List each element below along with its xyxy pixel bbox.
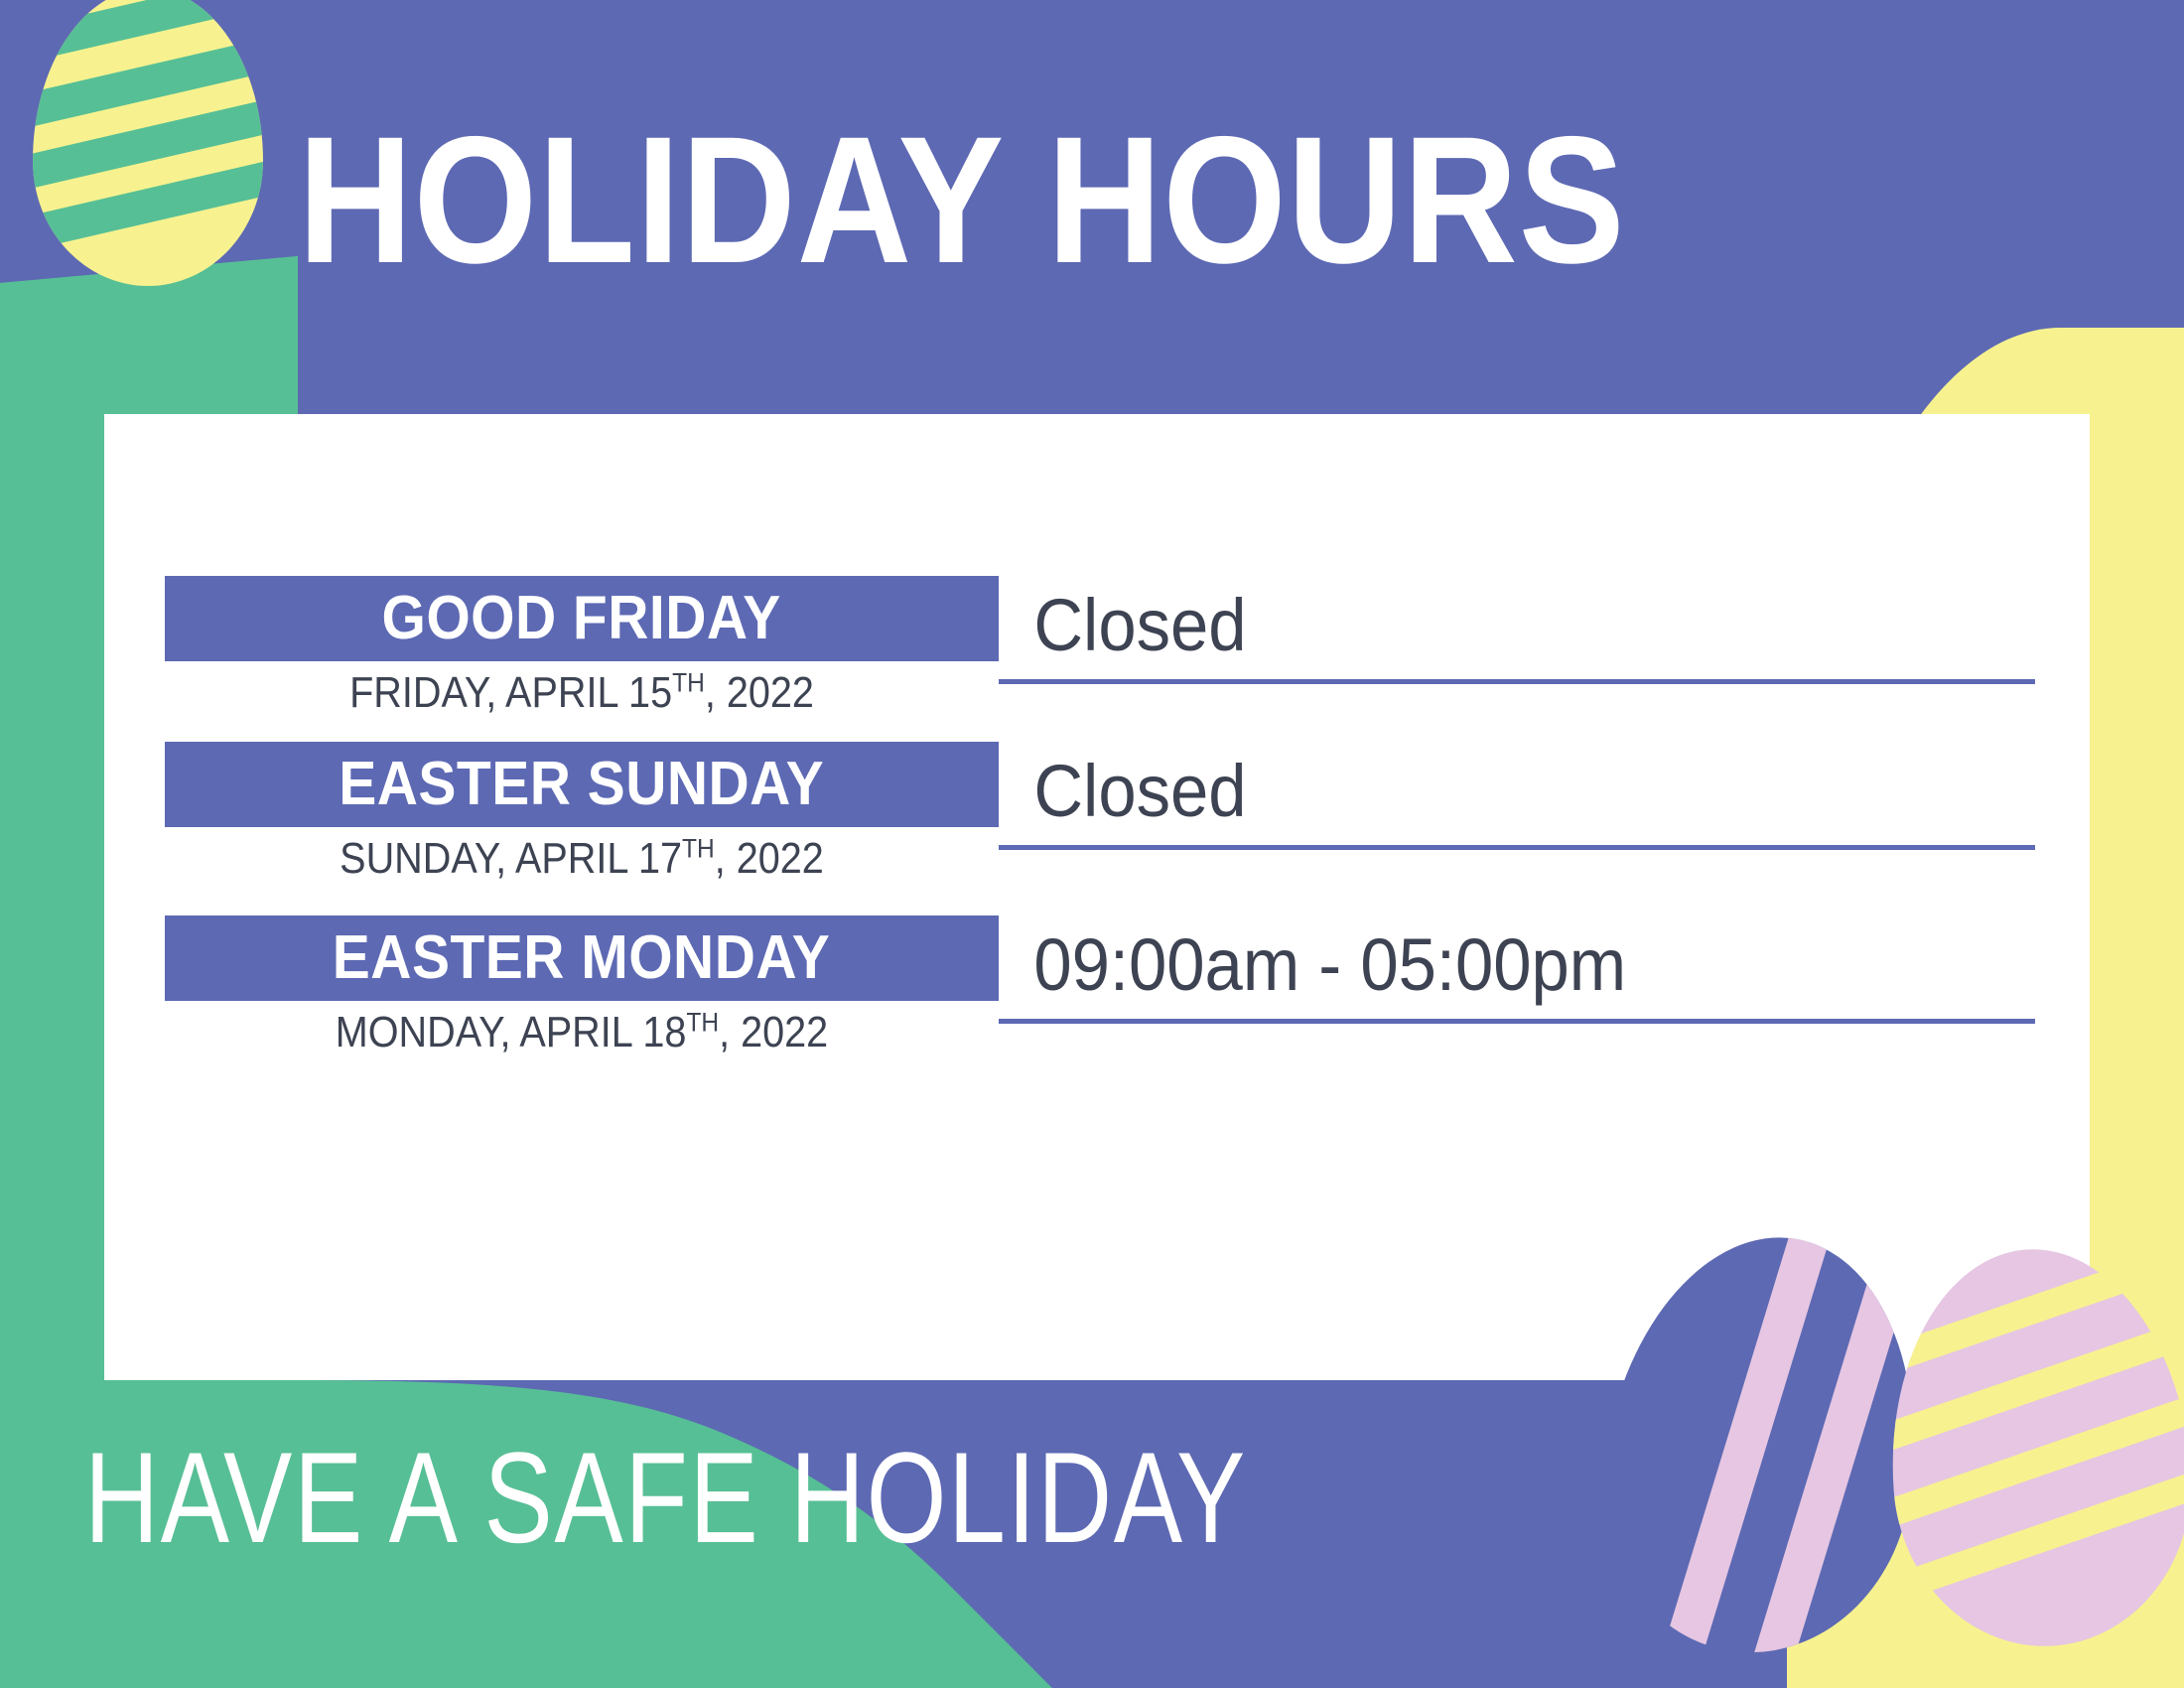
holiday-hours-value: Closed (999, 589, 1247, 662)
holiday-hours-field: 09:00am - 05:00pm (999, 912, 2035, 1024)
holiday-hours-field: Closed (999, 738, 2035, 850)
holiday-name-bar: GOOD FRIDAY (165, 576, 999, 661)
holiday-date: FRIDAY, APRIL 15TH, 2022 (206, 671, 957, 715)
easter-egg-yellow-green-stripes-icon (33, 0, 263, 286)
holiday-name-bar: EASTER SUNDAY (165, 742, 999, 827)
holiday-date-prefix: FRIDAY, APRIL 15 (349, 668, 672, 717)
holiday-name: EASTER MONDAY (333, 927, 830, 989)
holiday-date-prefix: SUNDAY, APRIL 17 (340, 834, 682, 883)
holiday-date-prefix: MONDAY, APRIL 18 (336, 1008, 687, 1056)
page-title: HOLIDAY HOURS (298, 109, 1783, 290)
holiday-date: MONDAY, APRIL 18TH, 2022 (206, 1011, 957, 1055)
holiday-date-suffix: , 2022 (715, 834, 824, 883)
holiday-hours-poster: HOLIDAY HOURS GOOD FRIDAY FRIDAY, APRIL … (0, 0, 2184, 1688)
holiday-hours-value: 09:00am - 05:00pm (999, 928, 1626, 1002)
holiday-date: SUNDAY, APRIL 17TH, 2022 (206, 837, 957, 881)
holiday-date-ordinal: TH (682, 832, 715, 863)
hours-card: GOOD FRIDAY FRIDAY, APRIL 15TH, 2022 Clo… (104, 414, 2090, 1380)
holiday-name-bar: EASTER MONDAY (165, 915, 999, 1001)
holiday-hours-field: Closed (999, 572, 2035, 684)
holiday-name: GOOD FRIDAY (382, 588, 781, 649)
holiday-date-suffix: , 2022 (719, 1008, 828, 1056)
footer-message: HAVE A SAFE HOLIDAY (84, 1433, 1247, 1562)
holiday-hours-value: Closed (999, 755, 1247, 828)
holiday-name: EASTER SUNDAY (340, 754, 825, 815)
holiday-date-suffix: , 2022 (705, 668, 814, 717)
holiday-date-ordinal: TH (686, 1006, 719, 1037)
holiday-date-ordinal: TH (672, 666, 705, 697)
